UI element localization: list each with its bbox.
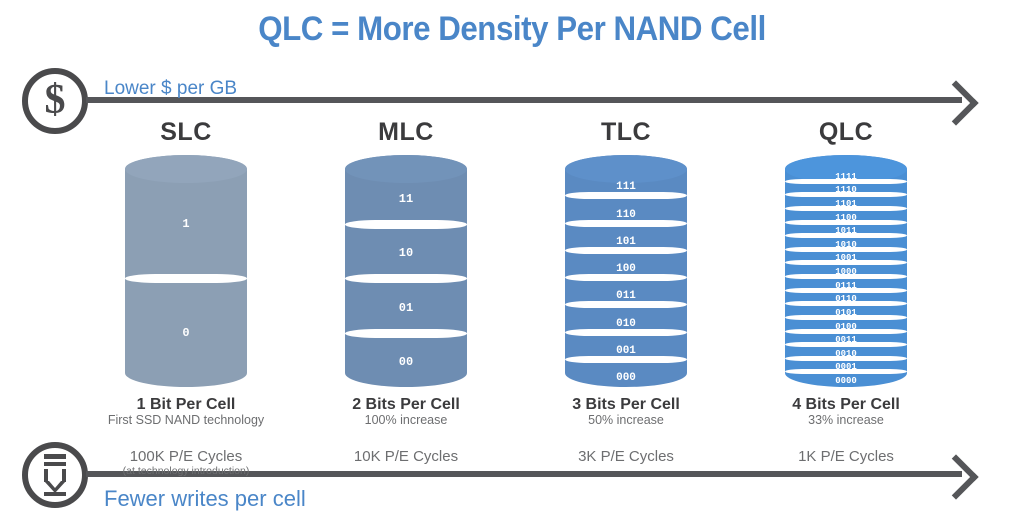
- infographic-canvas: QLC = More Density Per NAND Cell $ Lower…: [0, 0, 1024, 523]
- stack-separator: [785, 274, 907, 279]
- stack-body: [345, 155, 467, 387]
- dollar-glyph: $: [45, 79, 66, 121]
- column-title-mlc: MLC: [296, 118, 516, 147]
- bits-per-cell-label-tlc: 3 Bits Per Cell: [516, 396, 736, 414]
- bits-sub-label-slc: First SSD NAND technology: [76, 413, 296, 427]
- bits-per-cell-label-slc: 1 Bit Per Cell: [76, 396, 296, 414]
- stack-separator: [345, 220, 467, 229]
- stack-separator: [785, 369, 907, 374]
- nand-cell-stack-tlc: 111110101100011010001000: [565, 155, 687, 387]
- column-title-qlc: QLC: [736, 118, 956, 147]
- stack-separator: [565, 192, 687, 199]
- stack-separator: [785, 233, 907, 238]
- stack-separator: [785, 206, 907, 211]
- stack-separator: [785, 315, 907, 320]
- top-axis-caption: Lower $ per GB: [104, 78, 237, 100]
- stack-separator: [125, 274, 247, 283]
- pencil-glyph: [42, 454, 68, 496]
- stack-separator: [785, 260, 907, 265]
- nand-cell-stack-qlc: 1111111011011100101110101001100001110110…: [785, 155, 907, 387]
- stack-top-ellipse: [125, 155, 247, 183]
- stack-separator: [785, 342, 907, 347]
- stack-separator: [565, 356, 687, 363]
- stack-separator: [565, 301, 687, 308]
- stack-body: [125, 155, 247, 387]
- bits-per-cell-label-mlc: 2 Bits Per Cell: [296, 396, 516, 414]
- stack-separator: [565, 220, 687, 227]
- pe-cycles-label-tlc: 3K P/E Cycles: [516, 448, 736, 465]
- pe-cycles-sub-label-slc: (at technology introduction): [76, 465, 296, 477]
- stack-separator: [785, 247, 907, 252]
- bottom-axis-caption: Fewer writes per cell: [104, 486, 306, 512]
- stack-separator: [565, 329, 687, 336]
- stack-top-ellipse: [565, 155, 687, 183]
- stack-separator: [565, 247, 687, 254]
- stack-separator: [785, 179, 907, 184]
- bits-per-cell-label-qlc: 4 Bits Per Cell: [736, 396, 956, 414]
- stack-separator: [785, 220, 907, 225]
- stack-body: [785, 155, 907, 387]
- nand-cell-stack-slc: 10: [125, 155, 247, 387]
- cell-type-column-qlc: QLC1111111011011100101110101001100001110…: [736, 118, 956, 387]
- nand-cell-stack-mlc: 11100100: [345, 155, 467, 387]
- cell-type-column-mlc: MLC11100100: [296, 118, 516, 387]
- bits-sub-label-tlc: 50% increase: [516, 413, 736, 427]
- column-title-slc: SLC: [76, 118, 296, 147]
- bits-sub-label-qlc: 33% increase: [736, 413, 956, 427]
- bits-sub-label-mlc: 100% increase: [296, 413, 516, 427]
- stack-body: [565, 155, 687, 387]
- pe-cycles-label-mlc: 10K P/E Cycles: [296, 448, 516, 465]
- stack-top-ellipse: [345, 155, 467, 183]
- stack-separator: [785, 288, 907, 293]
- stack-separator: [785, 356, 907, 361]
- stack-separator: [345, 274, 467, 283]
- stack-separator: [785, 301, 907, 306]
- cell-type-column-slc: SLC10: [76, 118, 296, 387]
- column-title-tlc: TLC: [516, 118, 736, 147]
- stack-separator: [785, 192, 907, 197]
- pe-cycles-label-qlc: 1K P/E Cycles: [736, 448, 956, 465]
- page-title: QLC = More Density Per NAND Cell: [41, 10, 983, 49]
- pe-cycles-label-slc: 100K P/E Cycles: [76, 448, 296, 465]
- stack-separator: [785, 329, 907, 334]
- stack-separator: [565, 274, 687, 281]
- cell-type-column-tlc: TLC111110101100011010001000: [516, 118, 736, 387]
- stack-separator: [345, 329, 467, 338]
